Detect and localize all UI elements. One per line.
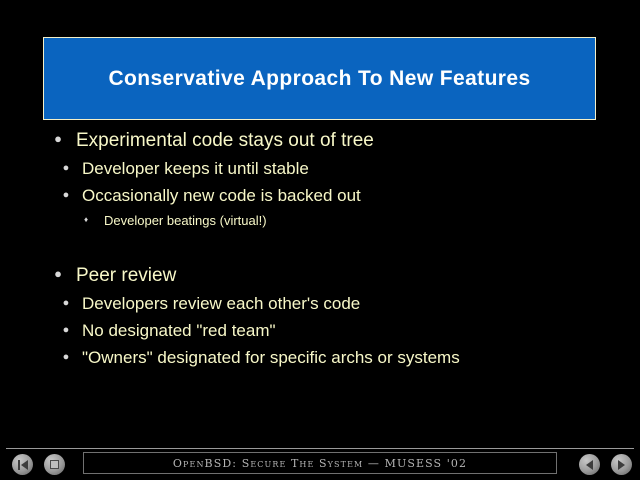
bullet-text: No designated "red team" <box>82 321 276 341</box>
bullet-text: Developers review each other's code <box>82 294 360 314</box>
first-slide-icon <box>12 454 33 475</box>
bullet-text: Experimental code stays out of tree <box>76 130 374 152</box>
bullet-group-spacer <box>0 239 640 265</box>
bullet-item: ● Peer review <box>0 265 640 294</box>
bullet-item: ● Experimental code stays out of tree <box>0 130 640 159</box>
slide-body: ● Experimental code stays out of tree ● … <box>0 130 640 375</box>
bullet-item: ● Developers review each other's code <box>0 294 640 321</box>
bullet-disc-icon: ● <box>50 190 82 201</box>
bullet-disc-icon: ● <box>50 325 82 336</box>
presentation-slide: Conservative Approach To New Features ● … <box>0 0 640 480</box>
stop-button[interactable] <box>44 454 65 475</box>
footer-title-box: OpenBSD: Secure The System — MUSESS '02 <box>83 452 557 474</box>
arrow-right-icon <box>611 454 632 475</box>
bullet-disc-icon: ● <box>50 163 82 174</box>
bullet-text: Occasionally new code is backed out <box>82 186 361 206</box>
slide-title: Conservative Approach To New Features <box>108 67 530 91</box>
bullet-text: Developer beatings (virtual!) <box>104 213 267 228</box>
arrow-left-icon <box>579 454 600 475</box>
footer-divider <box>6 448 634 449</box>
next-slide-button[interactable] <box>611 454 632 475</box>
bullet-text: Peer review <box>76 265 176 287</box>
footer-title: OpenBSD: Secure The System — MUSESS '02 <box>173 457 467 470</box>
bullet-item: ♦ Developer beatings (virtual!) <box>0 213 640 239</box>
bullet-item: ● "Owners" designated for specific archs… <box>0 348 640 375</box>
first-slide-button[interactable] <box>12 454 33 475</box>
stop-square-icon <box>44 454 65 475</box>
bullet-disc-icon: ● <box>40 132 76 145</box>
slide-title-banner: Conservative Approach To New Features <box>43 37 596 120</box>
bullet-diamond-icon: ♦ <box>68 216 104 224</box>
bullet-disc-icon: ● <box>50 352 82 363</box>
previous-slide-button[interactable] <box>579 454 600 475</box>
bullet-item: ● Occasionally new code is backed out <box>0 186 640 213</box>
bullet-text: Developer keeps it until stable <box>82 159 309 179</box>
bullet-text: "Owners" designated for specific archs o… <box>82 348 460 368</box>
bullet-disc-icon: ● <box>50 298 82 309</box>
bullet-disc-icon: ● <box>40 267 76 280</box>
bullet-item: ● No designated "red team" <box>0 321 640 348</box>
bullet-item: ● Developer keeps it until stable <box>0 159 640 186</box>
